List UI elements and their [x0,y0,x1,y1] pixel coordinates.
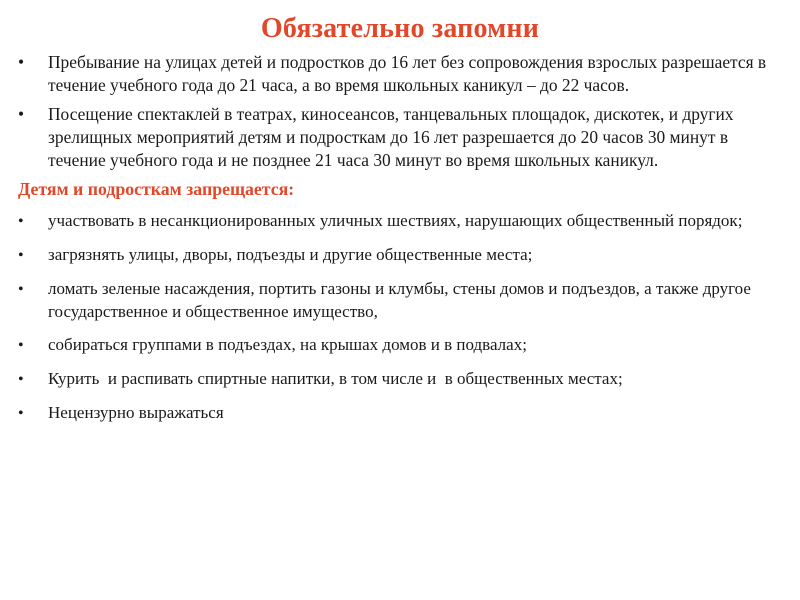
bullet-icon: • [18,335,32,357]
list-item: • ломать зеленые насаждения, портить газ… [10,278,786,324]
list-item: • Курить и распивать спиртные напитки, в… [10,368,786,391]
list-item-text: собираться группами в подъездах, на крыш… [48,334,786,357]
list-item: • Пребывание на улицах детей и подростко… [10,51,786,98]
bullet-icon: • [18,51,32,74]
list-item: • Нецензурно выражаться [10,402,786,425]
prohibitions-list: • участвовать в несанкционированных улич… [10,210,786,425]
list-item: • участвовать в несанкционированных улич… [10,210,786,233]
page-title: Обязательно запомни [0,0,800,51]
list-item-text: Курить и распивать спиртные напитки, в т… [48,368,786,391]
list-item-text: Нецензурно выражаться [48,402,786,425]
list-item-text: Посещение спектаклей в театрах, киносеан… [48,103,786,173]
slide-body: • Пребывание на улицах детей и подростко… [0,51,800,425]
bullet-icon: • [18,279,32,301]
primary-rules-list: • Пребывание на улицах детей и подростко… [10,51,786,173]
list-item: • загрязнять улицы, дворы, подъезды и др… [10,244,786,267]
bullet-icon: • [18,403,32,425]
bullet-icon: • [18,245,32,267]
list-item: • собираться группами в подъездах, на кр… [10,334,786,357]
bullet-icon: • [18,369,32,391]
prohibition-heading: Детям и подросткам запрещается: [10,178,786,201]
list-item-text: Пребывание на улицах детей и подростков … [48,51,786,98]
list-item: • Посещение спектаклей в театрах, киносе… [10,103,786,173]
list-item-text: участвовать в несанкционированных уличны… [48,210,786,233]
list-item-text: загрязнять улицы, дворы, подъезды и друг… [48,244,786,267]
list-item-text: ломать зеленые насаждения, портить газон… [48,278,786,324]
bullet-icon: • [18,103,32,126]
bullet-icon: • [18,211,32,233]
slide: Обязательно запомни • Пребывание на улиц… [0,0,800,600]
